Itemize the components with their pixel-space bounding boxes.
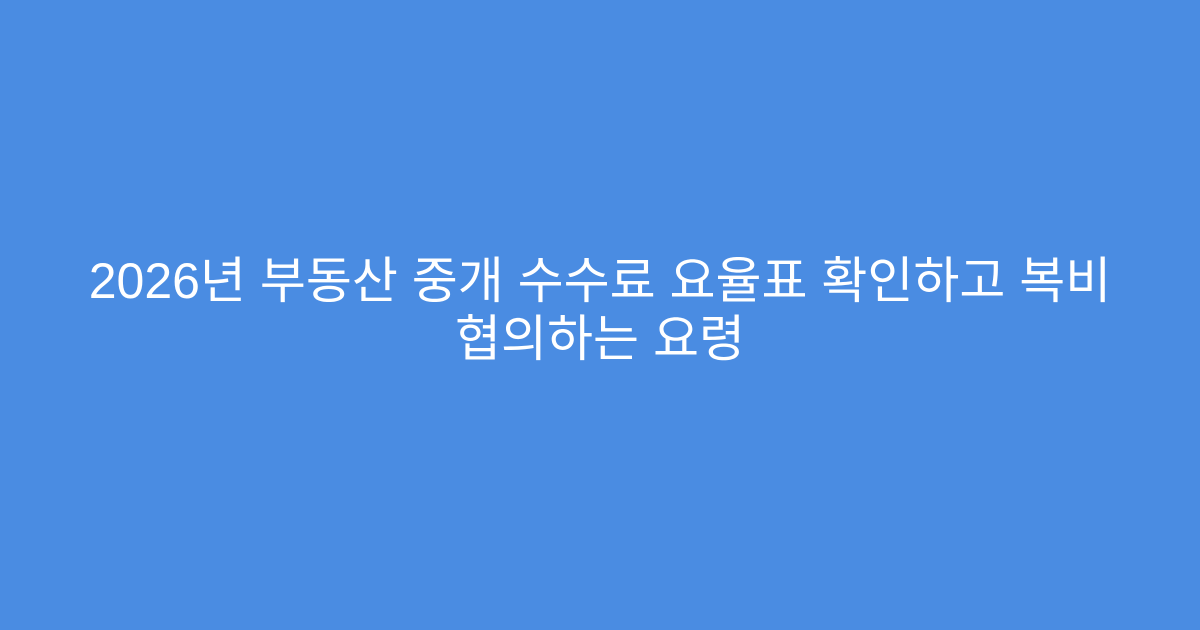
og-card-canvas: 2026년 부동산 중개 수수료 요율표 확인하고 복비 협의하는 요령 xyxy=(0,0,1200,630)
title-block: 2026년 부동산 중개 수수료 요율표 확인하고 복비 협의하는 요령 xyxy=(68,252,1133,368)
page-title: 2026년 부동산 중개 수수료 요율표 확인하고 복비 협의하는 요령 xyxy=(68,252,1133,368)
